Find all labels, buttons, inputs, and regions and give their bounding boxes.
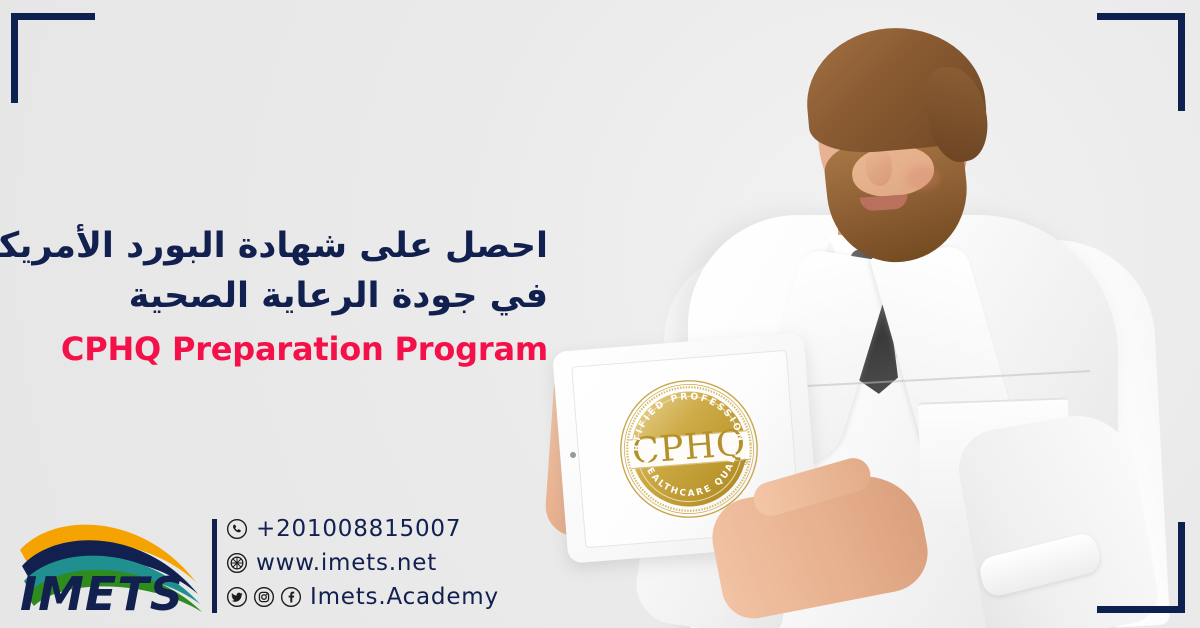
instagram-icon[interactable] (253, 586, 275, 608)
bracket-line-horizontal (11, 13, 95, 20)
contact-row-website[interactable]: www.imets.net (226, 546, 499, 580)
contact-row-phone[interactable]: +201008815007 (226, 512, 499, 546)
contact-block: +201008815007 www.imets.net (226, 512, 499, 614)
bracket-line-vertical (1178, 13, 1185, 111)
facebook-icon[interactable] (280, 586, 302, 608)
bracket-line-horizontal (1097, 13, 1185, 20)
phone-icon (226, 518, 248, 540)
twitter-icon[interactable] (226, 586, 248, 608)
globe-icon (226, 552, 248, 574)
headline-arabic-line-2: في جودة الرعاية الصحية (40, 272, 548, 322)
social-icon-group (226, 586, 305, 608)
logo-wordmark: IMETS (20, 567, 184, 616)
imets-logo: IMETS (14, 508, 204, 616)
headline-english-line: CPHQ Preparation Program (40, 327, 548, 371)
promotional-banner: CPHQ CERTIFIED PROFESSIONAL IN HEALTHCAR… (0, 0, 1200, 628)
corner-bracket-top-right (1097, 13, 1185, 111)
bracket-line-vertical (1178, 522, 1185, 613)
headline-block: احصل على شهادة البورد الأمريكي في جودة ا… (40, 222, 548, 372)
headline-arabic-line-1: احصل على شهادة البورد الأمريكي (40, 222, 548, 272)
cheek-blush (906, 166, 940, 190)
website-url: www.imets.net (256, 550, 437, 576)
seal-registered-mark: ® (741, 457, 749, 467)
bracket-line-vertical (11, 13, 18, 103)
footer-divider (212, 519, 217, 613)
social-handle: Imets.Academy (310, 584, 499, 610)
bracket-line-horizontal (1097, 606, 1185, 613)
phone-number: +201008815007 (256, 516, 461, 542)
contact-row-social[interactable]: Imets.Academy (226, 580, 499, 614)
corner-bracket-bottom-right (1097, 522, 1185, 613)
corner-bracket-top-left (11, 13, 95, 103)
